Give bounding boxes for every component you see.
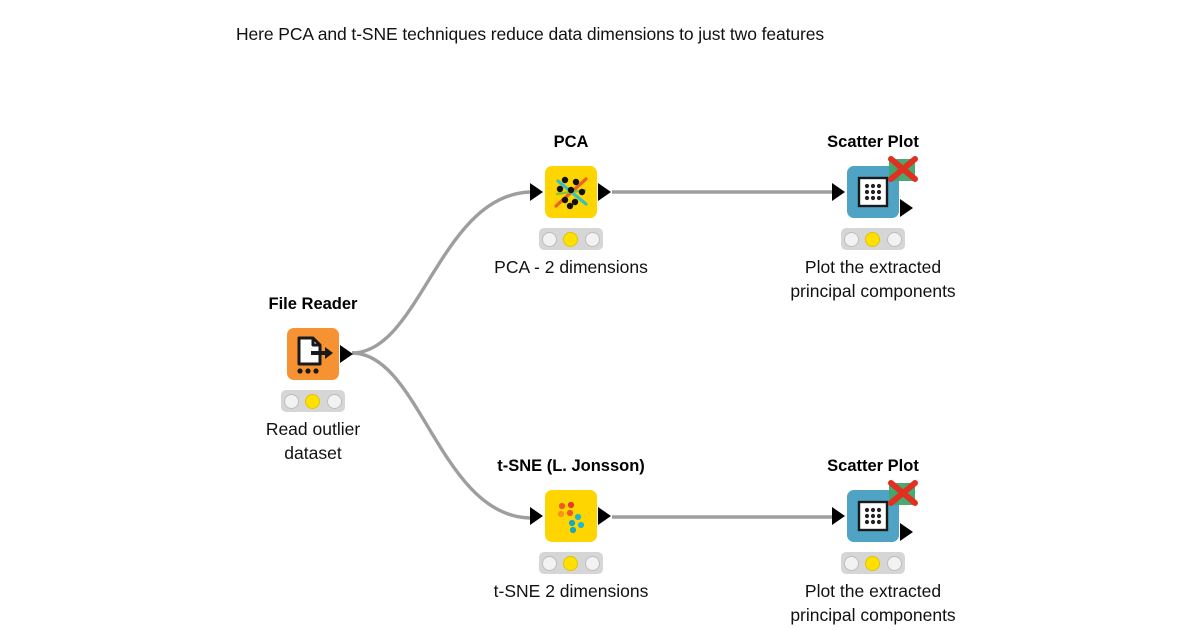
traffic-bulb-green xyxy=(585,556,600,571)
port-in-pca[interactable] xyxy=(530,183,543,201)
traffic-bulb-red xyxy=(542,556,557,571)
traffic-bulb-yellow xyxy=(563,232,578,247)
pca-icon xyxy=(545,166,597,218)
status-traffic-light-pca xyxy=(539,228,603,250)
node-title-pca: PCA xyxy=(441,133,701,152)
node-description-line-2: dataset xyxy=(163,441,463,465)
node-description-tsne: t-SNE 2 dimensions xyxy=(421,579,721,603)
port-out-scatter-plot-top[interactable] xyxy=(900,199,913,217)
node-icon-tsne[interactable] xyxy=(545,490,597,542)
node-title-tsne: t-SNE (L. Jonsson) xyxy=(441,457,701,476)
traffic-bulb-red xyxy=(542,232,557,247)
port-in-scatter-plot-top[interactable] xyxy=(832,183,845,201)
node-description-line-1: Plot the extracted xyxy=(723,255,1023,279)
node-description-line-2: principal components xyxy=(723,603,1023,627)
status-traffic-light-scatter-plot-top xyxy=(841,228,905,250)
port-out-scatter-plot-bottom[interactable] xyxy=(900,523,913,541)
traffic-bulb-green xyxy=(585,232,600,247)
port-in-scatter-plot-bottom[interactable] xyxy=(832,507,845,525)
traffic-bulb-green xyxy=(327,394,342,409)
file-reader-icon xyxy=(287,328,339,380)
traffic-bulb-yellow xyxy=(865,556,880,571)
node-description-line-2: principal components xyxy=(723,279,1023,303)
traffic-bulb-yellow xyxy=(865,232,880,247)
traffic-bulb-yellow xyxy=(305,394,320,409)
traffic-bulb-red xyxy=(284,394,299,409)
node-description-pca: PCA - 2 dimensions xyxy=(421,255,721,279)
port-out-file-reader[interactable] xyxy=(340,345,353,363)
node-description-line-1: t-SNE 2 dimensions xyxy=(421,579,721,603)
node-title-scatter-plot-bottom: Scatter Plot xyxy=(743,457,1003,476)
connector-layer xyxy=(0,0,1200,630)
x-badge-icon xyxy=(885,479,919,509)
node-title-scatter-plot-top: Scatter Plot xyxy=(743,133,1003,152)
traffic-bulb-green xyxy=(887,232,902,247)
status-traffic-light-file-reader xyxy=(281,390,345,412)
node-description-line-1: PCA - 2 dimensions xyxy=(421,255,721,279)
traffic-bulb-green xyxy=(887,556,902,571)
port-out-pca[interactable] xyxy=(598,183,611,201)
status-traffic-light-tsne xyxy=(539,552,603,574)
status-traffic-light-scatter-plot-bottom xyxy=(841,552,905,574)
port-in-tsne[interactable] xyxy=(530,507,543,525)
tsne-icon xyxy=(545,490,597,542)
node-description-line-1: Read outlier xyxy=(163,417,463,441)
x-badge-icon xyxy=(885,155,919,185)
node-description-scatter-plot-top: Plot the extracted principal components xyxy=(723,255,1023,303)
node-icon-file-reader[interactable] xyxy=(287,328,339,380)
workflow-canvas[interactable]: Here PCA and t-SNE techniques reduce dat… xyxy=(0,0,1200,630)
port-out-tsne[interactable] xyxy=(598,507,611,525)
traffic-bulb-red xyxy=(844,556,859,571)
node-description-file-reader: Read outlier dataset xyxy=(163,417,463,465)
node-description-line-1: Plot the extracted xyxy=(723,579,1023,603)
node-description-scatter-plot-bottom: Plot the extracted principal components xyxy=(723,579,1023,627)
traffic-bulb-red xyxy=(844,232,859,247)
node-title-file-reader: File Reader xyxy=(183,295,443,314)
node-icon-pca[interactable] xyxy=(545,166,597,218)
traffic-bulb-yellow xyxy=(563,556,578,571)
